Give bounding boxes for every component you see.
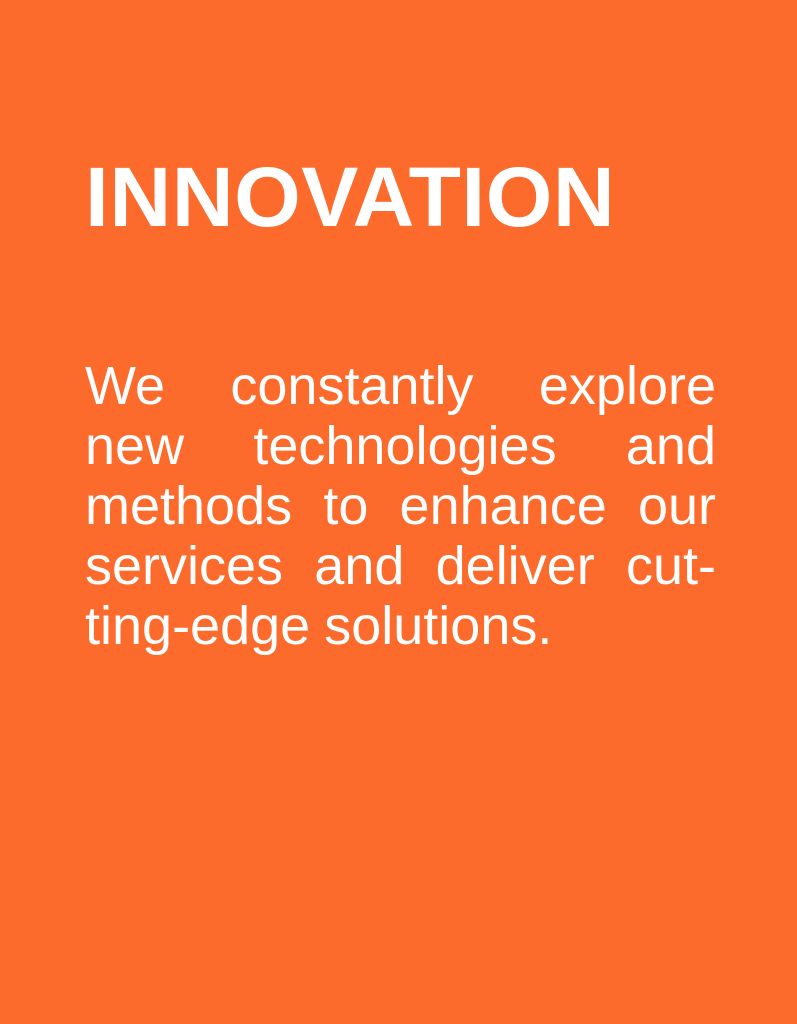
- word: solutions.: [324, 596, 552, 656]
- word: enhance: [400, 476, 607, 536]
- word: and: [626, 416, 716, 476]
- text-line: ting-edge solutions.: [85, 596, 716, 656]
- text-line: We constantly explore: [85, 356, 716, 416]
- word: services: [85, 536, 283, 596]
- word: deliver: [436, 536, 595, 596]
- body-paragraph: We constantly explore new technologies a…: [85, 356, 716, 656]
- slide-canvas: INNOVATION We constantly explore new tec…: [0, 0, 797, 1024]
- word: technologies: [253, 416, 556, 476]
- text-line: new technologies and: [85, 416, 716, 476]
- word: explore: [539, 356, 716, 416]
- word: methods: [85, 476, 292, 536]
- word: constantly: [230, 356, 473, 416]
- word: and: [314, 536, 404, 596]
- word: We: [85, 356, 165, 416]
- word: our: [638, 476, 716, 536]
- page-title: INNOVATION: [85, 155, 729, 239]
- word: cut-: [626, 536, 716, 596]
- word: new: [85, 416, 184, 476]
- word: to: [323, 476, 368, 536]
- word: ting-edge: [85, 596, 310, 656]
- text-line: methods to enhance our: [85, 476, 716, 536]
- text-line: services and deliver cut-: [85, 536, 716, 596]
